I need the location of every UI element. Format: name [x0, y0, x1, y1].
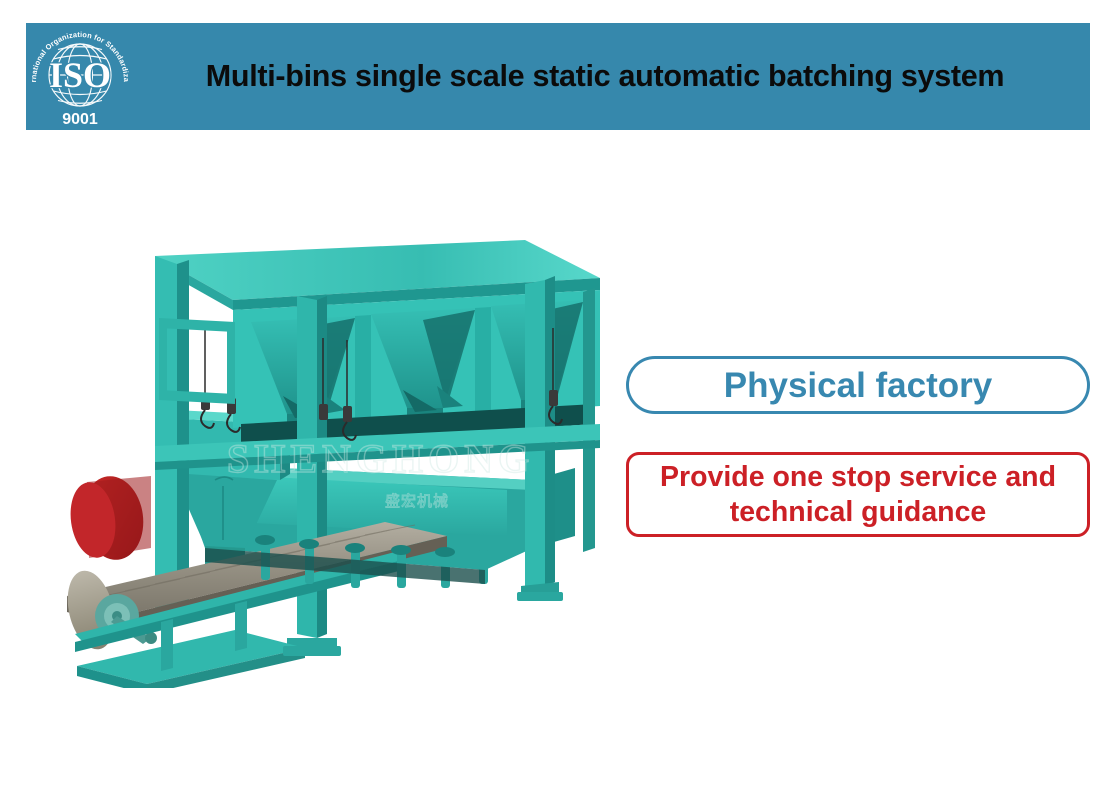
slide-root: International Organization for Standardi…: [0, 0, 1120, 799]
callout-one-stop-service[interactable]: Provide one stop service and technical g…: [626, 452, 1090, 537]
callout-physical-factory[interactable]: Physical factory: [626, 356, 1090, 414]
header-bar: International Organization for Standardi…: [26, 23, 1090, 130]
watermark-text: SHENGHONG: [227, 436, 534, 481]
page-title: Multi-bins single scale static automatic…: [134, 59, 1090, 94]
batching-machine-illustration: SHENGHONG 盛宏机械: [55, 218, 625, 688]
callout-line-2: technical guidance: [730, 496, 987, 528]
iso-logo-graphic: International Organization for Standardi…: [26, 23, 134, 130]
product-photo: SHENGHONG 盛宏机械: [55, 218, 625, 688]
iso-standard-number: 9001: [62, 111, 98, 128]
watermark-subtext: 盛宏机械: [385, 493, 449, 510]
callout-one-stop-service-label: Provide one stop service and technical g…: [652, 460, 1064, 528]
callout-physical-factory-label: Physical factory: [724, 368, 992, 403]
callout-line-1: Provide one stop service and: [660, 461, 1056, 493]
iso-9001-logo: International Organization for Standardi…: [26, 23, 134, 130]
iso-acronym: ISO: [49, 55, 111, 95]
